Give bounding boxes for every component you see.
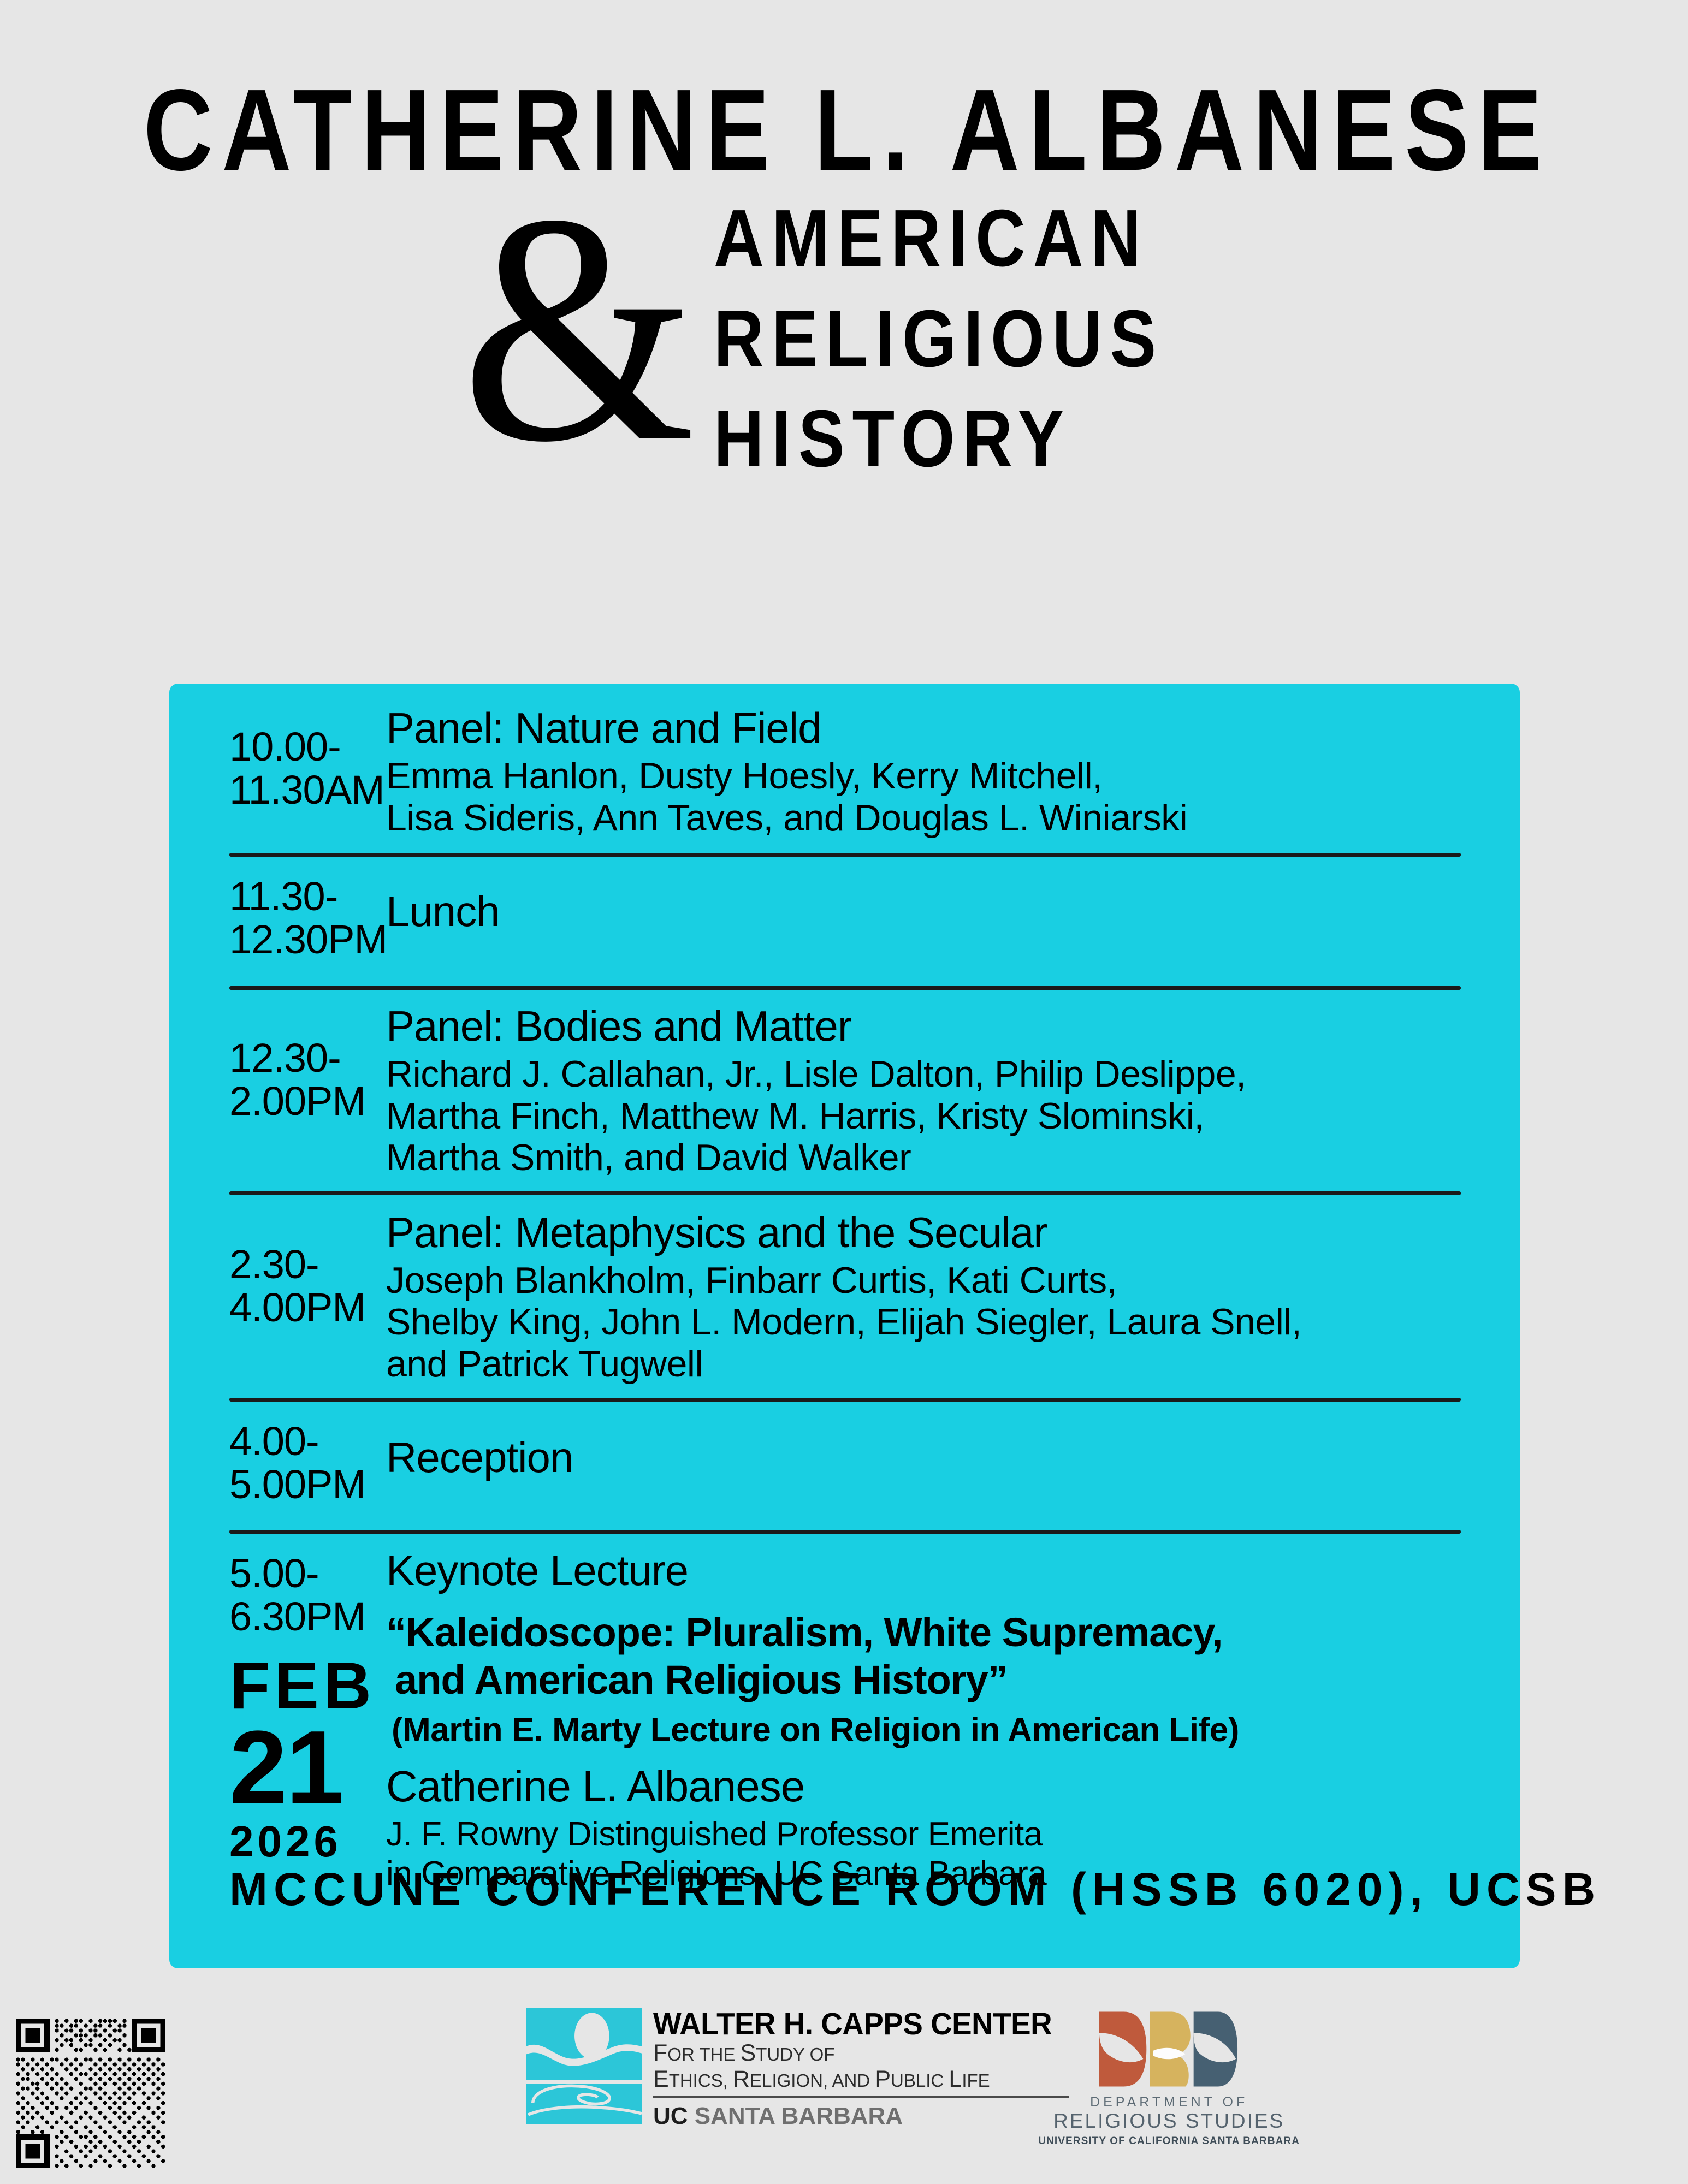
participants-line-2: Lisa Sideris, Ann Taves, and Douglas L. …: [386, 797, 1461, 839]
subtitle-line-1: AMERICAN: [714, 188, 1148, 289]
page-title: CATHERINE L. ALBANESE: [144, 76, 1545, 183]
row-time: 10.00- 11.30AM: [229, 704, 380, 811]
time-line-2: 2.00PM: [229, 1079, 380, 1123]
time-line-1: 4.00-: [229, 1420, 380, 1463]
session-title: Reception: [386, 1416, 1461, 1481]
time-line-2: 12.30PM: [229, 918, 380, 961]
keynote-title: “Kaleidoscope: Pluralism, White Supremac…: [386, 1609, 1461, 1704]
row-body: Keynote Lecture “Kaleidoscope: Pluralism…: [380, 1547, 1461, 1894]
row-time: 2.30- 4.00PM: [229, 1209, 380, 1329]
row-body: Panel: Bodies and Matter Richard J. Call…: [380, 1002, 1461, 1178]
keynote-label: Keynote Lecture: [386, 1547, 1461, 1594]
date-month: FEB: [229, 1652, 380, 1719]
keynote-title-line-2: and American Religious History”: [386, 1656, 1461, 1704]
ampersand-glyph: &: [461, 197, 696, 459]
time-line-1: 11.30-: [229, 875, 380, 918]
drs-line-3: UNIVERSITY OF CALIFORNIA SANTA BARBARA: [1038, 2135, 1300, 2147]
time-line-1: 10.00-: [229, 725, 380, 768]
subtitle-block: & AMERICAN RELIGIOUS HISTORY: [0, 183, 1688, 489]
time-line-2: 4.00PM: [229, 1286, 380, 1329]
row-body: Panel: Metaphysics and the Secular Josep…: [380, 1209, 1461, 1385]
capps-subtitle-2: ETHICS, RELIGION, AND PUBLIC LIFE: [653, 2066, 1069, 2092]
row-time: 4.00- 5.00PM: [229, 1416, 380, 1506]
qr-code-icon[interactable]: [11, 2014, 170, 2173]
keynote-series: (Martin E. Marty Lecture on Religion in …: [386, 1711, 1461, 1749]
table-row: 4.00- 5.00PM Reception: [229, 1398, 1461, 1530]
event-date: FEB 21 2026: [229, 1652, 380, 1863]
row-body: Lunch: [380, 871, 1461, 935]
drs-line-1: DEPARTMENT OF: [1090, 2094, 1248, 2110]
participants-line-2: Martha Finch, Matthew M. Harris, Kristy …: [386, 1095, 1461, 1137]
table-row: 11.30- 12.30PM Lunch: [229, 853, 1461, 986]
row-time: 5.00- 6.30PM FEB 21 2026: [229, 1547, 380, 1863]
row-time: 11.30- 12.30PM: [229, 871, 380, 961]
time-line-2: 5.00PM: [229, 1463, 380, 1506]
table-row: 12.30- 2.00PM Panel: Bodies and Matter R…: [229, 986, 1461, 1191]
session-title: Panel: Metaphysics and the Secular: [386, 1209, 1461, 1256]
subtitle-stack: AMERICAN RELIGIOUS HISTORY: [714, 183, 1237, 489]
poster-canvas: CATHERINE L. ALBANESE & AMERICAN RELIGIO…: [0, 0, 1688, 2184]
title-block: CATHERINE L. ALBANESE: [0, 76, 1688, 183]
time-line-1: 12.30-: [229, 1036, 380, 1079]
schedule-card: 10.00- 11.30AM Panel: Nature and Field E…: [169, 684, 1520, 1968]
capps-center-mark-icon: [524, 2008, 643, 2124]
time-line-2: 11.30AM: [229, 768, 380, 811]
capps-divider: [653, 2096, 1069, 2098]
capps-title: WALTER H. CAPPS CENTER: [653, 2008, 1052, 2040]
footer: WALTER H. CAPPS CENTER FOR THE STUDY OF …: [0, 1998, 1688, 2184]
session-title: Lunch: [386, 871, 1461, 935]
row-time: 12.30- 2.00PM: [229, 1002, 380, 1123]
keynote-speaker: Catherine L. Albanese: [386, 1762, 1461, 1811]
subtitle-line-2: RELIGIOUS: [714, 289, 1164, 389]
row-body: Panel: Nature and Field Emma Hanlon, Dus…: [380, 704, 1461, 839]
religious-studies-logo: DEPARTMENT OF RELIGIOUS STUDIES UNIVERSI…: [1087, 2008, 1251, 2147]
subtitle-line-3: HISTORY: [714, 389, 1071, 489]
participants-line-3: Martha Smith, and David Walker: [386, 1137, 1461, 1178]
drs-mark-icon: [1096, 2008, 1242, 2090]
keynote-title-line-1: “Kaleidoscope: Pluralism, White Supremac…: [386, 1610, 1223, 1655]
participants-line-1: Richard J. Callahan, Jr., Lisle Dalton, …: [386, 1053, 1461, 1095]
table-row: 10.00- 11.30AM Panel: Nature and Field E…: [229, 684, 1461, 853]
drs-line-2: RELIGIOUS STUDIES: [1053, 2110, 1284, 2133]
sponsor-logos: WALTER H. CAPPS CENTER FOR THE STUDY OF …: [524, 2008, 1251, 2147]
participants-line-3: and Patrick Tugwell: [386, 1343, 1461, 1385]
session-title: Panel: Bodies and Matter: [386, 1002, 1461, 1050]
participants-line-1: Emma Hanlon, Dusty Hoesly, Kerry Mitchel…: [386, 755, 1461, 797]
capps-center-logo: WALTER H. CAPPS CENTER FOR THE STUDY OF …: [524, 2008, 1069, 2130]
venue-line: MCCUNE CONFERENCE ROOM (HSSB 6020), UCSB: [229, 1863, 1469, 1916]
schedule-rows: 10.00- 11.30AM Panel: Nature and Field E…: [229, 684, 1461, 1894]
participants-line-1: Joseph Blankholm, Finbarr Curtis, Kati C…: [386, 1260, 1461, 1301]
row-body: Reception: [380, 1416, 1461, 1481]
date-year: 2026: [229, 1820, 380, 1863]
session-participants: Richard J. Callahan, Jr., Lisle Dalton, …: [386, 1053, 1461, 1178]
time-line-1: 5.00-: [229, 1552, 380, 1595]
table-row: 5.00- 6.30PM FEB 21 2026 Keynote Lecture…: [229, 1530, 1461, 1894]
affiliation-line-1: J. F. Rowny Distinguished Professor Emer…: [386, 1815, 1461, 1854]
capps-university: UC SANTA BARBARA: [653, 2103, 1069, 2130]
session-title: Panel: Nature and Field: [386, 704, 1461, 752]
table-row: 2.30- 4.00PM Panel: Metaphysics and the …: [229, 1191, 1461, 1398]
participants-line-2: Shelby King, John L. Modern, Elijah Sieg…: [386, 1301, 1461, 1343]
session-participants: Joseph Blankholm, Finbarr Curtis, Kati C…: [386, 1260, 1461, 1384]
capps-subtitle-1: FOR THE STUDY OF: [653, 2040, 1069, 2066]
capps-center-text: WALTER H. CAPPS CENTER FOR THE STUDY OF …: [653, 2008, 1069, 2130]
time-line-2: 6.30PM: [229, 1595, 380, 1638]
session-participants: Emma Hanlon, Dusty Hoesly, Kerry Mitchel…: [386, 755, 1461, 838]
time-line-1: 2.30-: [229, 1243, 380, 1286]
date-day: 21: [229, 1717, 380, 1818]
